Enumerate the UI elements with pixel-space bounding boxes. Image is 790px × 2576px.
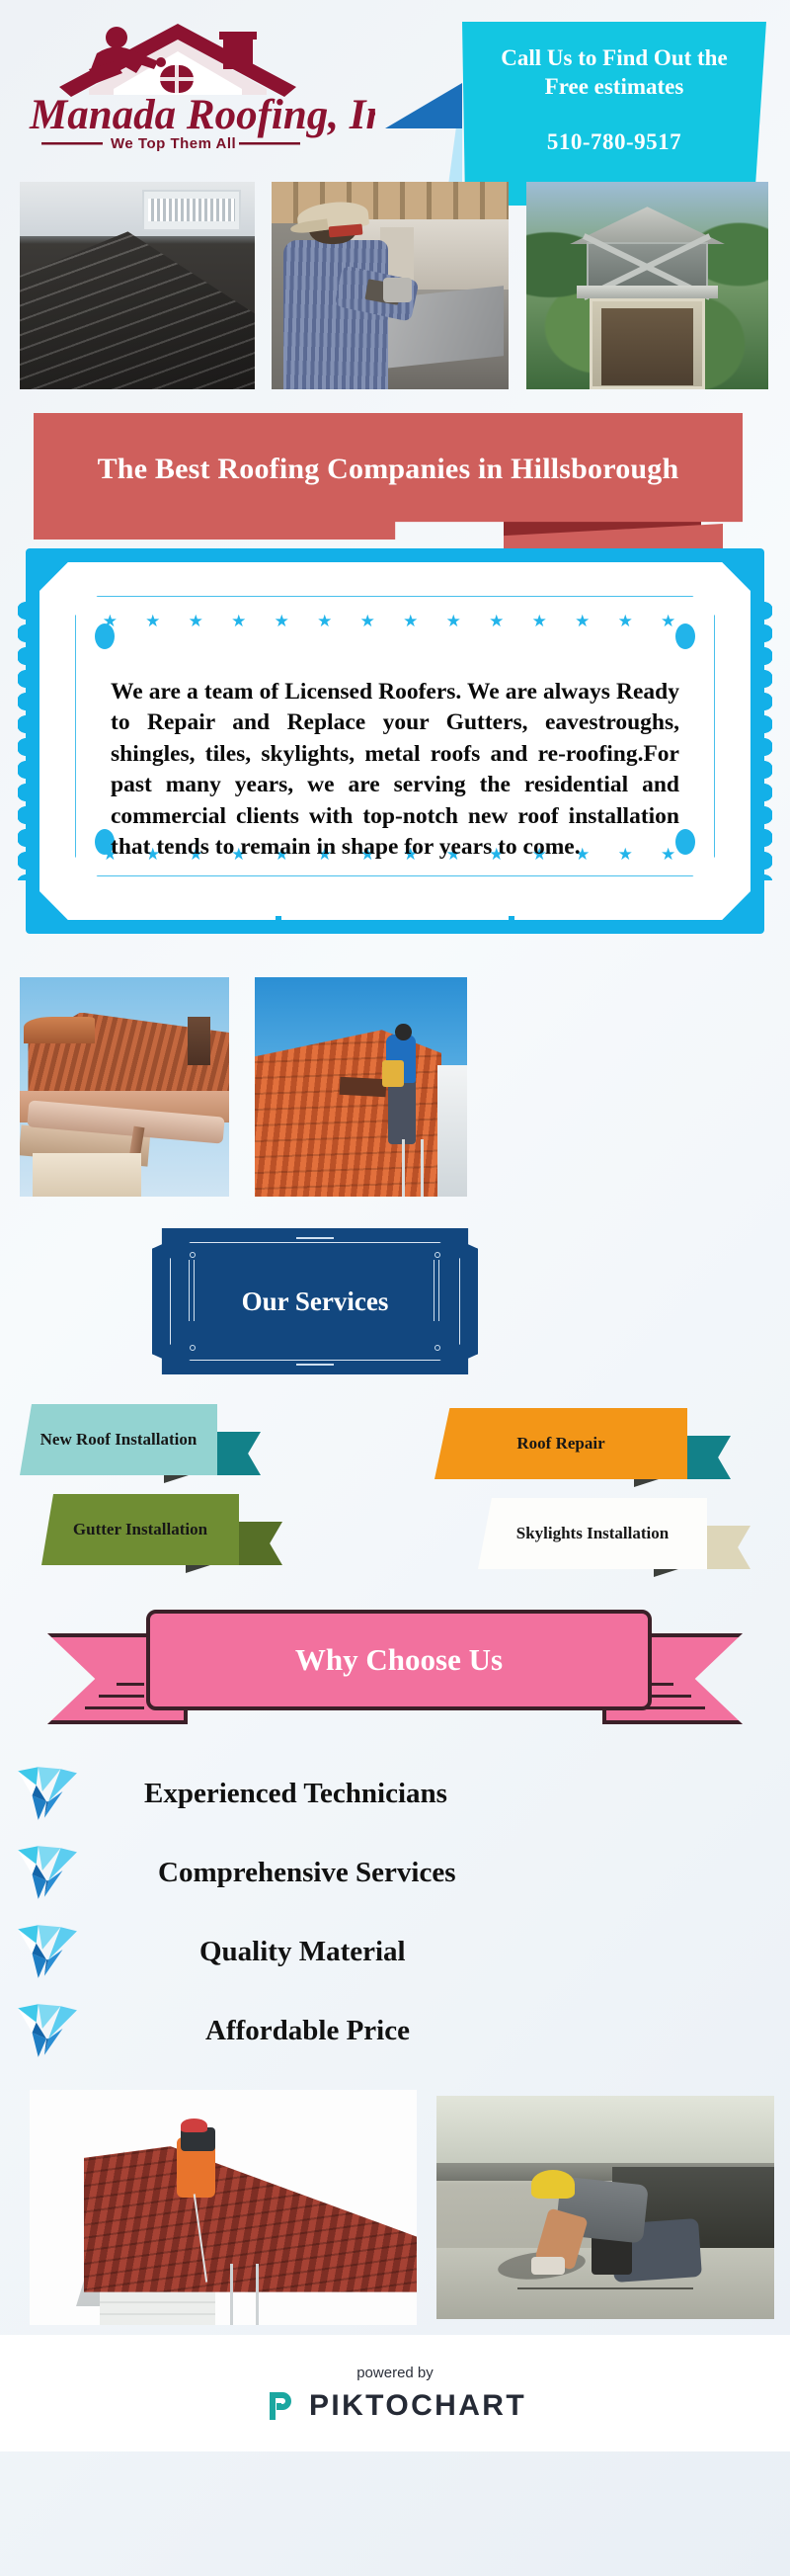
ribbon-body: Skylights Installation [478, 1498, 707, 1569]
headline-text: The Best Roofing Companies in Hillsborou… [98, 453, 679, 486]
cupola-chimney-cap-photo [526, 182, 768, 389]
sheet-metal-fabrication-photo [272, 182, 509, 389]
services-ticket: Our Services [152, 1228, 478, 1374]
services-row-2: Gutter Installation Skylights Installati… [0, 1488, 790, 1582]
service-label: Gutter Installation [63, 1520, 217, 1539]
ribbon-tail [705, 1526, 750, 1569]
service-ribbon-skylights-installation[interactable]: Skylights Installation [478, 1498, 707, 1569]
faceted-check-icon [14, 1840, 79, 1905]
svg-text:We Top Them All: We Top Them All [111, 135, 236, 152]
ribbon-body: New Roof Installation [20, 1404, 217, 1475]
ribbon-tail [237, 1522, 282, 1565]
stars-top-row: ★ ★ ★ ★ ★ ★ ★ ★ ★ ★ ★ ★ ★ ★ [39, 612, 750, 631]
service-ribbon-new-roof-installation[interactable]: New Roof Installation [20, 1404, 217, 1475]
feature-item: Comprehensive Services [0, 1833, 790, 1912]
wing-lines-right [646, 1633, 705, 1724]
why-choose-us-title: Why Choose Us [295, 1642, 503, 1678]
wing-lines-left [85, 1633, 144, 1724]
roofer-on-house-icon: Manada Roofing, Inc. We Top Them All [20, 18, 375, 156]
piktochart-brand[interactable]: PIKTOCHART [264, 2389, 526, 2423]
powered-by-label: powered by [356, 2365, 434, 2381]
scallop-left [18, 602, 34, 880]
certificate-inner-panel: ★ ★ ★ ★ ★ ★ ★ ★ ★ ★ ★ ★ ★ ★ ★ ★ ★ ★ ★ ★ … [39, 562, 750, 920]
callout-line-1: Call Us to Find Out the [482, 43, 747, 72]
feature-item: Experienced Technicians [0, 1754, 790, 1833]
about-paragraph: We are a team of Licensed Roofers. We ar… [111, 677, 679, 864]
certificate-bottom-notches [45, 916, 745, 934]
roofer-with-ladder-photo [30, 2090, 417, 2325]
feature-item: Quality Material [0, 1912, 790, 1991]
ribbon-tail [215, 1432, 261, 1475]
footer: powered by PIKTOCHART [0, 2335, 790, 2451]
feature-label: Experienced Technicians [144, 1778, 447, 1810]
phone-number[interactable]: 510-780-9517 [547, 129, 681, 155]
service-label: New Roof Installation [31, 1430, 207, 1450]
roofer-on-tile-roof-photo [255, 977, 467, 1197]
standing-seam-metal-roof-photo [20, 182, 255, 389]
banner-body: The Best Roofing Companies in Hillsborou… [34, 413, 743, 540]
ribbon-body: Gutter Installation [41, 1494, 239, 1565]
header: Manada Roofing, Inc. We Top Them All Cal… [0, 0, 790, 168]
callout-tail-dark [385, 83, 462, 128]
ribbon-tail [685, 1436, 731, 1479]
photo-strip-top [0, 168, 790, 395]
why-choose-us-body: Why Choose Us [146, 1610, 652, 1710]
scallop-right [756, 602, 772, 880]
service-label: Skylights Installation [507, 1524, 678, 1543]
faceted-check-icon [14, 1919, 79, 1984]
ribbon-body: Roof Repair [434, 1408, 687, 1479]
service-ribbon-roof-repair[interactable]: Roof Repair [434, 1408, 687, 1479]
services-header: Our Services [0, 1220, 790, 1394]
service-label: Roof Repair [507, 1434, 614, 1454]
certificate-frame: ★ ★ ★ ★ ★ ★ ★ ★ ★ ★ ★ ★ ★ ★ ★ ★ ★ ★ ★ ★ … [26, 548, 764, 934]
feature-label: Affordable Price [205, 2015, 410, 2047]
tile-roof-gutter-photo [20, 977, 229, 1197]
feature-label: Quality Material [199, 1936, 406, 1968]
svg-text:Manada Roofing, Inc.: Manada Roofing, Inc. [29, 92, 375, 138]
feature-item: Affordable Price [0, 1991, 790, 2070]
piktochart-logo-icon [264, 2389, 297, 2423]
services-title: Our Services [152, 1228, 478, 1374]
callout-line-2: Free estimates [482, 72, 747, 101]
feature-label: Comprehensive Services [158, 1857, 456, 1889]
service-ribbon-gutter-installation[interactable]: Gutter Installation [41, 1494, 239, 1565]
faceted-check-icon [14, 1998, 79, 2063]
why-choose-us-banner: Why Choose Us [0, 1582, 790, 1736]
flat-roof-membrane-photo [436, 2096, 774, 2319]
about-section: ★ ★ ★ ★ ★ ★ ★ ★ ★ ★ ★ ★ ★ ★ ★ ★ ★ ★ ★ ★ … [0, 548, 790, 963]
photo-strip-bottom [0, 2080, 790, 2335]
infographic-page: Manada Roofing, Inc. We Top Them All Cal… [0, 0, 790, 2451]
photo-strip-mid [0, 963, 790, 1220]
headline-banner: The Best Roofing Companies in Hillsborou… [0, 395, 790, 539]
company-logo[interactable]: Manada Roofing, Inc. We Top Them All [20, 18, 375, 156]
seal-dot-top-right [675, 623, 695, 649]
seal-dot-top-left [95, 623, 115, 649]
feature-list: Experienced Technicians Comprehensive Se… [0, 1736, 790, 2080]
faceted-check-icon [14, 1761, 79, 1826]
piktochart-wordmark: PIKTOCHART [309, 2389, 526, 2423]
services-row-1: New Roof Installation Roof Repair [0, 1394, 790, 1488]
